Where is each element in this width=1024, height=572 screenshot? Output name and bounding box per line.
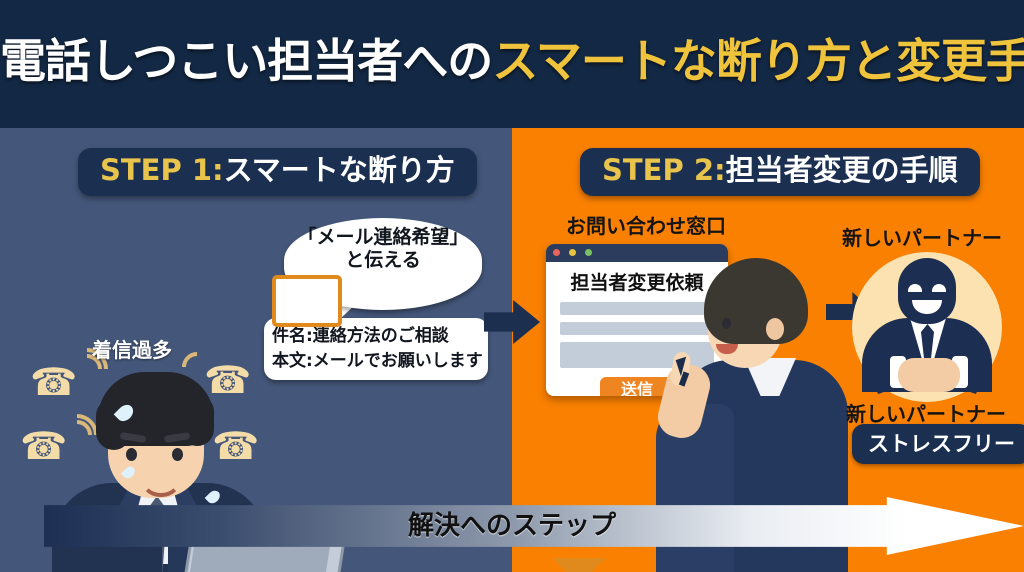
page-title-white: 電話しつこい担当者への — [0, 34, 492, 88]
header-banner: 電話しつこい担当者へのスマートな断り方と変更手順 — [0, 0, 1024, 128]
agent-ear — [766, 318, 784, 340]
contact-window-label: お問い合わせ窓口 — [566, 210, 726, 239]
person-eye-right — [172, 448, 183, 461]
page-title: 電話しつこい担当者へのスマートな断り方と変更手順 — [0, 38, 1024, 84]
incoming-calls-label: 着信過多 — [92, 334, 172, 363]
infographic-canvas: 電話しつこい担当者へのスマートな断り方と変更手順 ☎ ☎ ☎ ☎ 着信過多 — [0, 0, 1024, 572]
mail-body-line: 本文:メールでお願いします — [272, 349, 488, 374]
agent-eye — [722, 318, 731, 329]
envelope-icon — [272, 275, 342, 327]
window-close-dot[interactable] — [553, 249, 560, 256]
new-partner-label-bottom: 新しいパートナー — [846, 398, 1006, 427]
step2-number: STEP 2: — [602, 153, 726, 187]
speech-line-2: と伝える — [284, 249, 482, 272]
step1-badge: STEP 1:スマートな断り方 — [78, 148, 477, 196]
mail-subject-line: 件名:連絡方法のご相談 — [272, 324, 488, 349]
speech-line-1: 「メール連絡希望」 — [284, 226, 482, 249]
step1-number: STEP 1: — [100, 153, 224, 187]
step1-text: スマートな断り方 — [224, 153, 455, 187]
new-partner-label-top: 新しいパートナー — [842, 222, 1002, 251]
step2-text: 担当者変更の手順 — [726, 153, 958, 187]
step2-badge: STEP 2:担当者変更の手順 — [580, 148, 980, 196]
partner-head — [898, 258, 956, 324]
page-title-gold: スマートな断り方と変更手順 — [492, 34, 1024, 88]
window-minimize-dot[interactable] — [569, 249, 576, 256]
stress-free-badge: ストレスフリー — [852, 424, 1024, 464]
progress-arrow-label: 解決へのステップ — [0, 505, 1024, 542]
form-title: 担当者変更依頼 — [546, 268, 728, 295]
partner-eye-right — [932, 284, 946, 292]
envelope-flap — [552, 558, 606, 572]
window-maximize-dot[interactable] — [585, 249, 592, 256]
person-eye-left — [126, 448, 137, 461]
browser-title-bar — [546, 244, 728, 262]
form-field-2[interactable] — [560, 322, 714, 335]
form-field-1[interactable] — [560, 302, 714, 315]
mail-draft-card: 件名:連絡方法のご相談 本文:メールでお願いします — [264, 318, 488, 380]
handshake-icon — [898, 358, 960, 392]
partner-eye-left — [908, 284, 922, 292]
